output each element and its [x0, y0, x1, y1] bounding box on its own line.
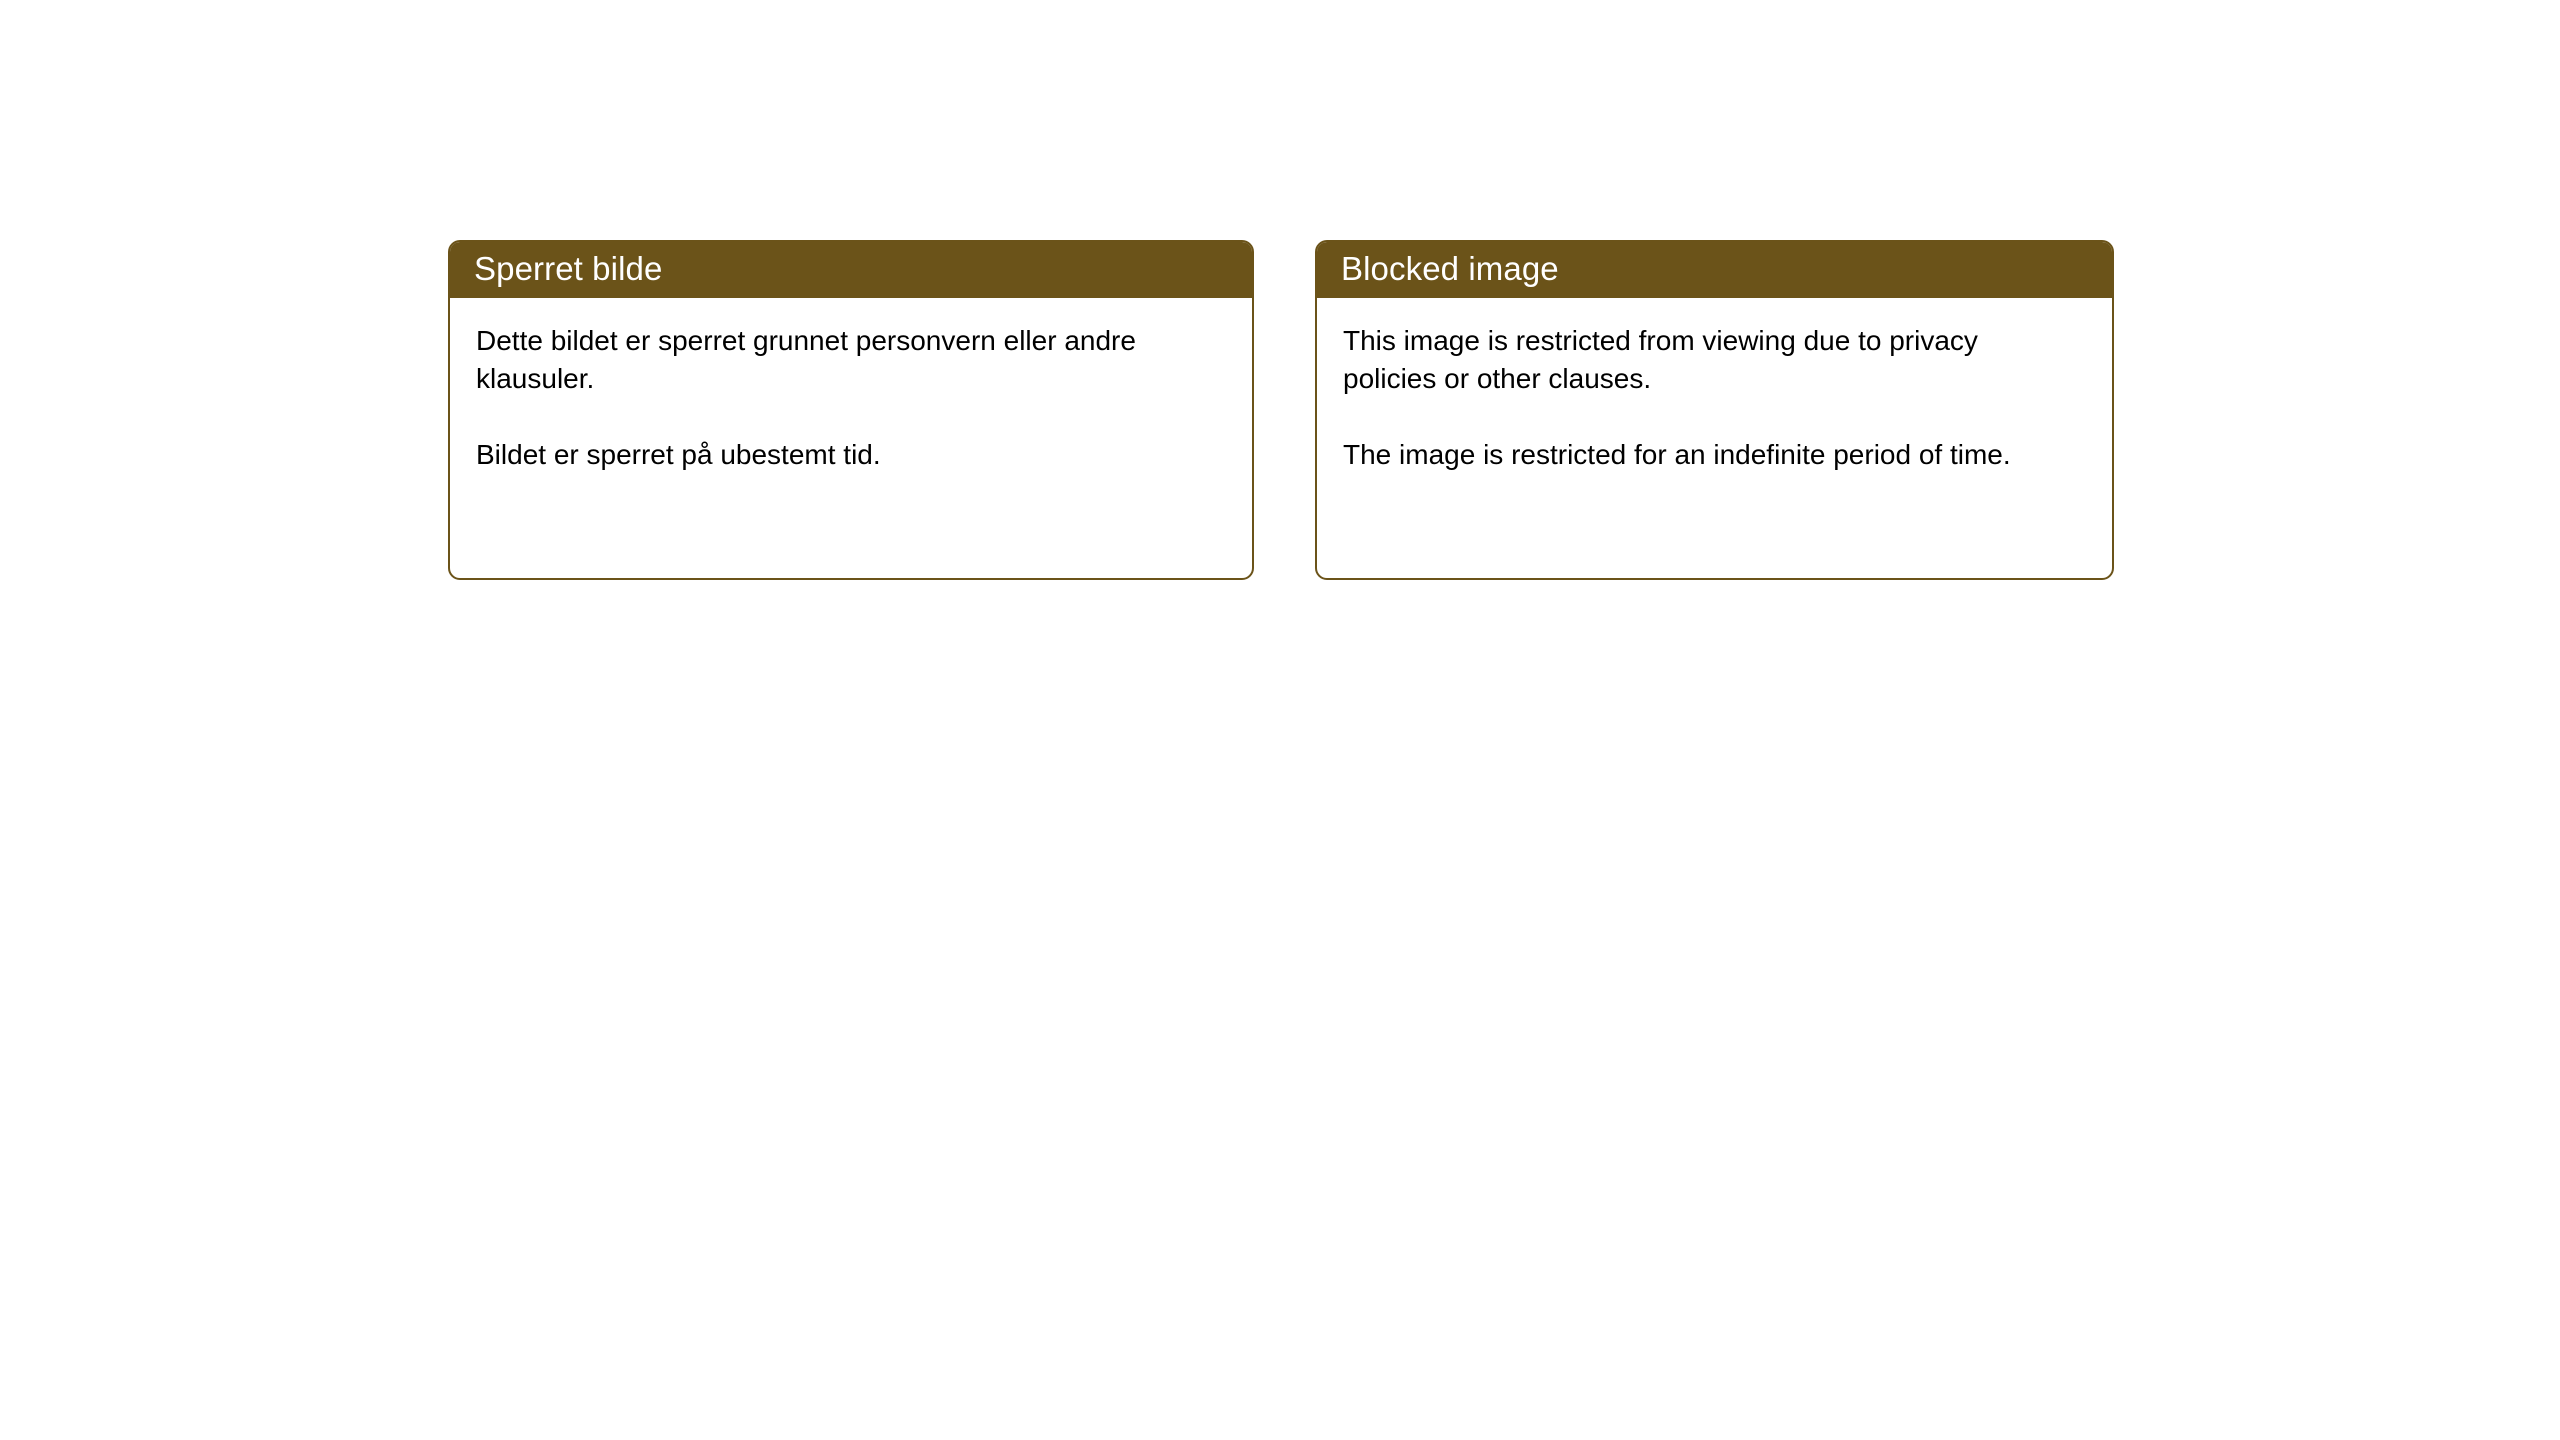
- card-paragraph-reason-english: This image is restricted from viewing du…: [1343, 322, 2043, 398]
- card-body-norwegian: Dette bildet er sperret grunnet personve…: [450, 298, 1252, 474]
- card-title-norwegian: Sperret bilde: [474, 251, 662, 287]
- card-title-english: Blocked image: [1341, 251, 1559, 287]
- page-canvas: Sperret bilde Dette bildet er sperret gr…: [0, 0, 2560, 1440]
- card-header-english: Blocked image: [1315, 240, 2114, 298]
- card-paragraph-duration-english: The image is restricted for an indefinit…: [1343, 436, 2043, 474]
- card-paragraph-duration-norwegian: Bildet er sperret på ubestemt tid.: [476, 436, 1176, 474]
- card-paragraph-reason-norwegian: Dette bildet er sperret grunnet personve…: [476, 322, 1176, 398]
- card-header-norwegian: Sperret bilde: [448, 240, 1254, 298]
- card-body-english: This image is restricted from viewing du…: [1317, 298, 2112, 474]
- blocked-image-notice-card-english: Blocked image This image is restricted f…: [1315, 240, 2114, 580]
- blocked-image-notice-card-norwegian: Sperret bilde Dette bildet er sperret gr…: [448, 240, 1254, 580]
